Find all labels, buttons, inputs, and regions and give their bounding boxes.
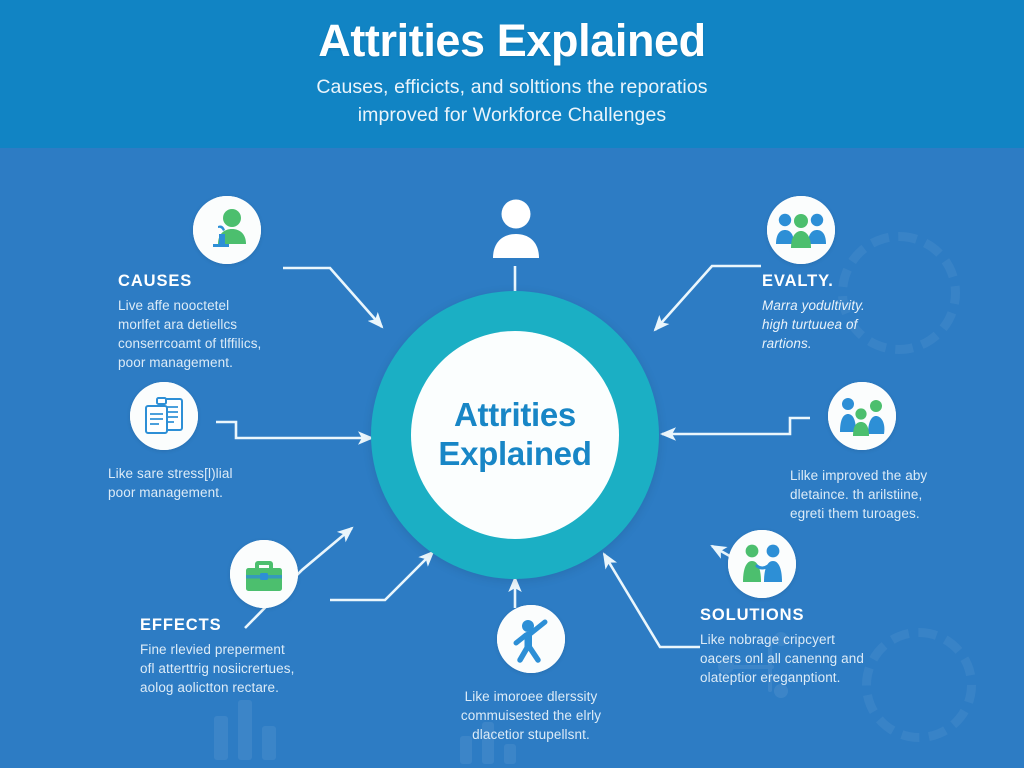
node-causes-heading: CAUSES: [118, 272, 368, 291]
family-group-icon: [828, 382, 896, 450]
header-banner: Attrities Explained Causes, efficicts, a…: [0, 0, 1024, 148]
node-evalty-body: Marra yodultivity. high turtuuea of rart…: [762, 296, 1014, 353]
node-solutions-heading: SOLUTIONS: [700, 606, 970, 625]
node-diversity-body-line-2: commuisested the elrly: [461, 708, 601, 723]
node-effects[interactable]: EFFECTS Fine rlevied preperment ofl atte…: [140, 540, 390, 697]
node-evalty-body-line-2: high turtuuea of: [762, 317, 857, 332]
people-group-icon: [767, 196, 835, 264]
node-family-body-line-2: dletaince. th arilstiine,: [790, 487, 922, 502]
page-subtitle-line-1: Causes, efficicts, and solttions the rep…: [0, 73, 1024, 101]
briefcase-icon: [230, 540, 298, 608]
node-effects-body: Fine rlevied preperment ofl atterttrig n…: [140, 640, 390, 697]
node-solutions[interactable]: SOLUTIONS Like nobrage cripcyert oacers …: [700, 530, 970, 687]
node-documents-body-line-1: Like sare stress[l)lial: [108, 466, 233, 481]
node-solutions-body-line-3: olateptior ereganptiont.: [700, 670, 841, 685]
node-effects-body-line-3: aolog aolictton rectare.: [140, 680, 279, 695]
center-title-line-1: Attrities: [454, 396, 576, 435]
person-raising-arm-icon: [497, 605, 565, 673]
node-diversity[interactable]: Like imoroee dlerssity commuisested the …: [400, 605, 662, 744]
handshake-people-icon: [728, 530, 796, 598]
node-solutions-body-line-1: Like nobrage cripcyert: [700, 632, 835, 647]
node-evalty-heading: EVALTY.: [762, 272, 1014, 291]
center-hub: Attrities Explained: [371, 291, 659, 579]
node-effects-heading: EFFECTS: [140, 616, 390, 635]
node-evalty-body-line-3: rartions.: [762, 336, 812, 351]
node-family[interactable]: Lilke improved the aby dletaince. th ari…: [790, 382, 1024, 523]
center-title-line-2: Explained: [438, 435, 591, 474]
infographic-canvas: Attrities Explained Causes, efficicts, a…: [0, 0, 1024, 768]
node-diversity-body-line-1: Like imoroee dlerssity: [465, 689, 598, 704]
person-silhouette-icon: [488, 198, 544, 260]
node-causes-body-line-1: Live affe nooctetel: [118, 298, 229, 313]
node-solutions-body: Like nobrage cripcyert oacers onl all ca…: [700, 630, 970, 687]
node-documents[interactable]: Like sare stress[l)lial poor management.: [108, 382, 344, 502]
node-family-body: Lilke improved the aby dletaince. th ari…: [790, 466, 1024, 523]
node-effects-body-line-2: ofl atterttrig nosiicrertues,: [140, 661, 294, 676]
node-evalty[interactable]: EVALTY. Marra yodultivity. high turtuuea…: [762, 196, 1014, 353]
node-causes-body-line-2: morlfet ara detiellcs: [118, 317, 237, 332]
node-causes[interactable]: CAUSES Live affe nooctetel morlfet ara d…: [118, 196, 368, 373]
node-solutions-body-line-2: oacers onl all canenng and: [700, 651, 864, 666]
watermark-bars-bottom-left: [214, 700, 284, 760]
node-evalty-body-line-1: Marra yodultivity.: [762, 298, 865, 313]
node-family-body-line-1: Lilke improved the aby: [790, 468, 927, 483]
node-causes-body-line-4: poor management.: [118, 355, 233, 370]
node-causes-body: Live affe nooctetel morlfet ara detiellc…: [118, 296, 368, 373]
node-diversity-body-line-3: dlacetior stupellsnt.: [472, 727, 590, 742]
connector-evalty: [655, 266, 761, 330]
node-effects-body-line-1: Fine rlevied preperment: [140, 642, 285, 657]
node-documents-body: Like sare stress[l)lial poor management.: [108, 464, 344, 502]
page-subtitle: Causes, efficicts, and solttions the rep…: [0, 73, 1024, 130]
page-title: Attrities Explained: [0, 0, 1024, 67]
node-diversity-body: Like imoroee dlerssity commuisested the …: [400, 687, 662, 744]
person-at-desk-icon: [193, 196, 261, 264]
node-family-body-line-3: egreti them turoages.: [790, 506, 920, 521]
page-subtitle-line-2: improved for Workforce Challenges: [0, 101, 1024, 129]
documents-icon: [130, 382, 198, 450]
node-causes-body-line-3: conserrcoamt of tlffilics,: [118, 336, 261, 351]
connector-family: [662, 418, 810, 434]
node-documents-body-line-2: poor management.: [108, 485, 223, 500]
center-hub-label: Attrities Explained: [411, 331, 619, 539]
